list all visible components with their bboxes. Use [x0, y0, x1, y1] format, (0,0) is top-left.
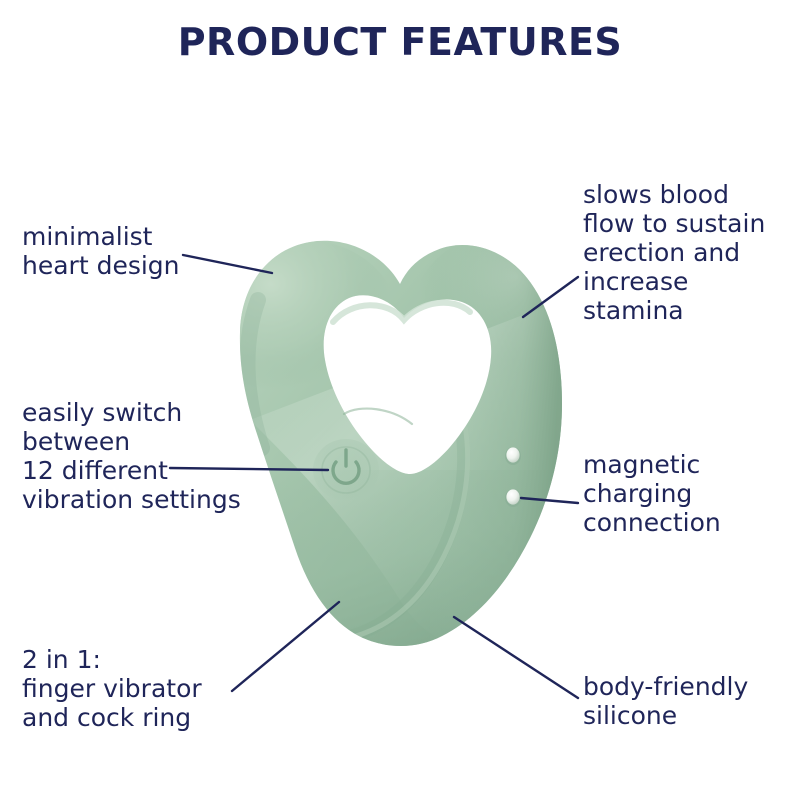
callout-blood-flow: slows blood flow to sustain erection and…: [583, 180, 800, 325]
callout-body-friendly-silicone: body-friendly silicone: [583, 672, 800, 730]
charging-pin-bottom: [506, 489, 519, 504]
callout-vibration-settings: easily switch between 12 different vibra…: [22, 398, 292, 514]
callout-two-in-one: 2 in 1: finger vibrator and cock ring: [22, 645, 302, 732]
leader-line-body-friendly-silicone: [454, 617, 578, 698]
charging-pin-top: [506, 447, 519, 462]
callout-heart-design: minimalist heart design: [22, 222, 282, 280]
callout-magnetic-charging: magnetic charging connection: [583, 450, 800, 537]
product-features-infographic: PRODUCT FEATURES: [0, 0, 800, 800]
